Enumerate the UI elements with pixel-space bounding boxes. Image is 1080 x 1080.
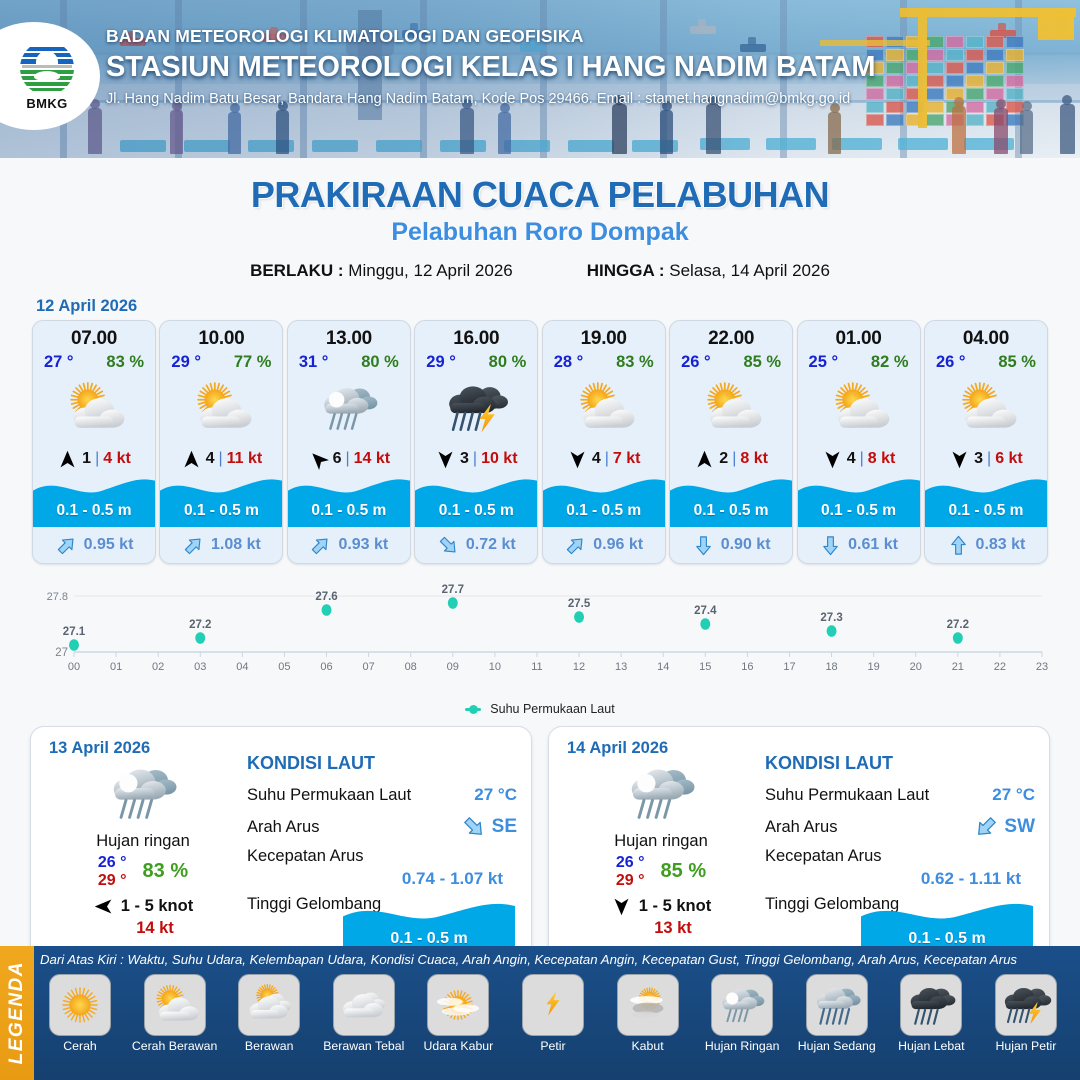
svg-text:16: 16 [741,661,753,673]
current-speed-value: 0.72 kt [466,536,516,554]
sst-chart: 27.8270001020304050607080910111213141516… [28,580,1052,700]
forecast-card-row: 07.0027 °83 %1|4 kt0.1 - 0.5 m0.95 kt10.… [0,320,1080,564]
forecast-current: 0.61 kt [798,527,920,563]
legend-item-label: Berawan Tebal [323,1039,404,1053]
valid-from-value: Minggu, 12 April 2026 [348,261,512,280]
weather-icon-cerah-berawan [670,372,792,444]
sea-condition-title: KONDISI LAUT [765,753,1035,774]
forecast-humidity: 82 % [871,353,909,372]
current-direction-arrow-icon [692,534,715,557]
forecast-temperature: 25 ° [809,353,839,372]
weather-icon-kabut [617,974,679,1036]
wind-separator: | [732,450,736,468]
wind-speed-value: 2 [719,450,728,468]
current-direction-arrow-icon [819,534,842,557]
wave-height-block: 0.1 - 0.5 m [160,475,282,527]
chart-legend-label: Suhu Permukaan Laut [490,702,614,716]
current-direction-row: Arah ArusSE [247,811,517,843]
daily-temp-min: 26 ° [98,854,127,872]
wind-speed-value: 6 [333,450,342,468]
current-direction-arrow-icon [309,534,332,557]
svg-text:12: 12 [573,661,585,673]
svg-text:27.1: 27.1 [63,626,86,638]
current-direction-arrow-icon [973,814,999,840]
weather-icon-berawan [238,974,300,1036]
current-direction-arrow-icon [55,534,78,557]
legend-item: Hujan Ringan [698,974,786,1053]
current-speed-value: 0.74 - 1.07 kt [247,869,517,889]
gust-speed-value: 6 kt [995,450,1023,468]
daily-temp-max: 29 ° [616,872,645,890]
gust-speed-value: 10 kt [481,450,517,468]
current-direction-label: Arah Arus [765,818,837,837]
forecast-humidity: 83 % [616,353,654,372]
svg-text:03: 03 [194,661,206,673]
forecast-current: 0.83 kt [925,527,1047,563]
valid-until-value: Selasa, 14 April 2026 [669,261,830,280]
bmkg-logo-emblem [20,41,74,95]
weather-icon-hujan-ringan [104,756,182,830]
svg-text:22: 22 [994,661,1006,673]
svg-text:01: 01 [110,661,122,673]
wave-height-block: 0.1 - 0.5 m [670,475,792,527]
forecast-humidity: 80 % [361,353,399,372]
wave-height-value: 0.1 - 0.5 m [288,502,410,520]
sst-label: Suhu Permukaan Laut [247,786,411,805]
wind-separator: | [860,450,864,468]
legend-item-label: Hujan Lebat [898,1039,964,1053]
sst-row: Suhu Permukaan Laut27 °C [765,779,1035,811]
forecast-current: 0.72 kt [415,527,537,563]
daily-gust: 13 kt [654,919,692,938]
daily-forecast-panel[interactable]: 13 April 2026Hujan ringan26 °29 °83 %1 -… [30,726,532,972]
daily-wind: 1 - 5 knot [93,896,193,917]
weather-icon-cerah-berawan [925,372,1047,444]
legend-item: Berawan [225,974,313,1053]
current-direction-value-group: SW [973,814,1035,840]
wind-direction-arrow-icon [694,449,715,470]
weather-icon-petir [522,974,584,1036]
wind-speed-value: 4 [592,450,601,468]
wave-height-value: 0.1 - 0.5 m [33,502,155,520]
wind-separator: | [219,450,223,468]
forecast-wind: 3|6 kt [925,444,1047,474]
svg-text:27.4: 27.4 [694,605,717,617]
forecast-temp-humidity: 26 °85 % [670,350,792,372]
wave-height-value: 0.1 - 0.5 m [670,502,792,520]
legend-item: Berawan Tebal [320,974,408,1053]
weather-icon-cerah-berawan [543,372,665,444]
gust-speed-value: 7 kt [613,450,641,468]
svg-text:21: 21 [952,661,964,673]
forecast-temperature: 29 ° [171,353,201,372]
daily-temp-range: 26 °29 ° [616,854,645,890]
svg-text:27.2: 27.2 [189,619,211,631]
daily-condition: Hujan ringan [96,832,190,851]
wind-direction-arrow-icon [181,449,202,470]
svg-text:27.2: 27.2 [947,619,969,631]
svg-text:06: 06 [320,661,332,673]
legend-item-label: Udara Kabur [424,1039,494,1053]
weather-icon-hujan-sedang [806,974,868,1036]
current-direction-arrow-icon [947,534,970,557]
wind-separator: | [605,450,609,468]
daily-panel-right: KONDISI LAUTSuhu Permukaan Laut27 °CArah… [241,739,517,959]
page-title: PRAKIRAAN CUACA PELABUHAN [0,174,1080,216]
legend-item-label: Cerah [63,1039,97,1053]
wind-separator: | [345,450,349,468]
svg-text:14: 14 [657,661,669,673]
station-address: Jl. Hang Nadim Batu Besar, Bandara Hang … [106,91,1006,107]
forecast-time: 04.00 [925,321,1047,350]
forecast-current: 0.95 kt [33,527,155,563]
header-text-block: BADAN METEOROLOGI KLIMATOLOGI DAN GEOFIS… [106,26,1006,107]
current-speed-value: 0.62 - 1.11 kt [765,869,1035,889]
weather-icon-hujan-petir [995,974,1057,1036]
current-direction-arrow-icon [437,534,460,557]
forecast-card[interactable]: 16.0029 °80 %3|10 kt0.1 - 0.5 m0.72 kt [414,320,538,564]
current-direction-label: Arah Arus [247,818,319,837]
station-name: STASIUN METEOROLOGI KELAS I HANG NADIM B… [106,51,1006,84]
forecast-card[interactable]: 13.0031 °80 %6|14 kt0.1 - 0.5 m0.93 kt [287,320,411,564]
current-speed-value: 0.83 kt [976,536,1026,554]
valid-from: BERLAKU : Minggu, 12 April 2026 [250,261,513,281]
forecast-wind: 1|4 kt [33,444,155,474]
daily-temp-humidity: 26 °29 °85 % [616,854,706,890]
forecast-time: 01.00 [798,321,920,350]
sst-label: Suhu Permukaan Laut [765,786,929,805]
svg-text:08: 08 [405,661,417,673]
forecast-time: 07.00 [33,321,155,350]
forecast-temperature: 26 ° [681,353,711,372]
bmkg-logo-text: BMKG [20,96,74,111]
daily-panel-right: KONDISI LAUTSuhu Permukaan Laut27 °CArah… [759,739,1035,959]
forecast-wind: 4|11 kt [160,444,282,474]
forecast-temp-humidity: 29 °80 % [415,350,537,372]
wind-speed-value: 4 [847,450,856,468]
svg-text:27: 27 [55,647,68,659]
forecast-card[interactable]: 04.0026 °85 %3|6 kt0.1 - 0.5 m0.83 kt [924,320,1048,564]
svg-text:27.5: 27.5 [568,598,591,610]
svg-text:23: 23 [1036,661,1048,673]
wind-direction-arrow-icon [308,449,329,470]
wind-direction-arrow-icon [435,449,456,470]
legend-item: Hujan Sedang [793,974,881,1053]
svg-text:27.6: 27.6 [315,591,337,603]
current-speed-label: Kecepatan Arus [247,847,364,866]
wind-separator: | [95,450,99,468]
gust-speed-value: 11 kt [227,450,263,468]
current-direction-arrow-icon [461,814,487,840]
daily-wind-range: 1 - 5 knot [639,897,711,916]
gust-speed-value: 8 kt [868,450,896,468]
current-direction-value: SW [1004,816,1035,838]
forecast-humidity: 77 % [234,353,272,372]
daily-condition: Hujan ringan [614,832,708,851]
sst-chart-svg: 27.8270001020304050607080910111213141516… [28,580,1052,684]
weather-icon-hujan-lebat [900,974,962,1036]
forecast-current: 1.08 kt [160,527,282,563]
wind-direction-arrow-icon [822,449,843,470]
svg-text:20: 20 [910,661,922,673]
forecast-temperature: 29 ° [426,353,456,372]
wave-height-value: 0.1 - 0.5 m [543,502,665,520]
legend-item: Cerah [36,974,124,1053]
svg-text:07: 07 [362,661,374,673]
svg-text:13: 13 [615,661,627,673]
current-direction-value: SE [492,816,517,838]
daily-panel-left: 14 April 2026Hujan ringan26 °29 °85 %1 -… [563,739,759,959]
daily-forecast-panel[interactable]: 14 April 2026Hujan ringan26 °29 °85 %1 -… [548,726,1050,972]
forecast-wind: 4|8 kt [798,444,920,474]
wave-height-block: 0.1 - 0.5 m [33,475,155,527]
wave-height-value: 0.1 - 0.5 m [415,502,537,520]
wind-direction-arrow-icon [949,449,970,470]
forecast-humidity: 83 % [106,353,144,372]
forecast-humidity: 85 % [744,353,782,372]
legend-item: Cerah Berawan [131,974,219,1053]
forecast-temp-humidity: 26 °85 % [925,350,1047,372]
svg-text:15: 15 [699,661,711,673]
svg-text:04: 04 [236,661,248,673]
svg-text:27.7: 27.7 [442,584,464,596]
forecast-temperature: 27 ° [44,353,74,372]
legend-item: Hujan Petir [982,974,1070,1053]
sst-row: Suhu Permukaan Laut27 °C [247,779,517,811]
wind-separator: | [473,450,477,468]
svg-text:05: 05 [278,661,290,673]
infographic-page: BMKG BADAN METEOROLOGI KLIMATOLOGI DAN G… [0,0,1080,1080]
current-direction-row: Arah ArusSW [765,811,1035,843]
chart-legend-marker [469,705,478,714]
forecast-current: 0.90 kt [670,527,792,563]
current-direction-value-group: SE [461,814,517,840]
daily-temp-range: 26 °29 ° [98,854,127,890]
svg-text:27.3: 27.3 [820,612,842,624]
daily-temp-max: 29 ° [98,872,127,890]
forecast-wind: 6|14 kt [288,444,410,474]
wind-direction-arrow-icon [57,449,78,470]
svg-text:09: 09 [447,661,459,673]
weather-icon-cerah [49,974,111,1036]
legend-item-label: Cerah Berawan [132,1039,217,1053]
wind-speed-value: 3 [460,450,469,468]
gust-speed-value: 4 kt [103,450,131,468]
forecast-time: 10.00 [160,321,282,350]
weather-icon-cerah-berawan [798,372,920,444]
forecast-wind: 4|7 kt [543,444,665,474]
legend-side-label: LEGENDA [6,961,28,1064]
daily-panel-left: 13 April 2026Hujan ringan26 °29 °83 %1 -… [45,739,241,959]
daily-gust: 14 kt [136,919,174,938]
forecast-humidity: 80 % [489,353,527,372]
daily-humidity: 85 % [661,860,707,883]
current-speed-row: Kecepatan Arus [247,843,517,869]
current-speed-row: Kecepatan Arus [765,843,1035,869]
forecast-temp-humidity: 29 °77 % [160,350,282,372]
legend-item-label: Hujan Petir [996,1039,1057,1053]
current-speed-value: 0.93 kt [338,536,388,554]
weather-icon-hujan-ringan [711,974,773,1036]
forecast-temperature: 31 ° [299,353,329,372]
forecast-card[interactable]: 22.0026 °85 %2|8 kt0.1 - 0.5 m0.90 kt [669,320,793,564]
weather-icon-berawan-tebal [333,974,395,1036]
weather-icon-cerah-berawan [33,372,155,444]
agency-name: BADAN METEOROLOGI KLIMATOLOGI DAN GEOFIS… [106,26,1006,47]
forecast-wind: 2|8 kt [670,444,792,474]
legend-item-row: CerahCerah BerawanBerawanBerawan TebalUd… [36,974,1076,1053]
forecast-card[interactable]: 10.0029 °77 %4|11 kt0.1 - 0.5 m1.08 kt [159,320,283,564]
forecast-time: 22.00 [670,321,792,350]
forecast-temp-humidity: 31 °80 % [288,350,410,372]
weather-icon-udara-kabur [427,974,489,1036]
sst-value: 27 °C [474,785,517,805]
chart-legend: Suhu Permukaan Laut [0,702,1080,716]
legend-item: Petir [509,974,597,1053]
wave-height-block: 0.1 - 0.5 m [798,475,920,527]
header-banner: BMKG BADAN METEOROLOGI KLIMATOLOGI DAN G… [0,0,1080,158]
legend-bar: LEGENDA Dari Atas Kiri : Waktu, Suhu Uda… [0,946,1080,1080]
forecast-temperature: 28 ° [554,353,584,372]
current-direction-arrow-icon [182,534,205,557]
weather-icon-cerah-berawan [144,974,206,1036]
forecast-current: 0.93 kt [288,527,410,563]
current-direction-arrow-icon [564,534,587,557]
svg-text:19: 19 [868,661,880,673]
page-subtitle: Pelabuhan Roro Dompak [0,218,1080,247]
legend-item: Udara Kabur [414,974,502,1053]
daily-panel-row: 13 April 2026Hujan ringan26 °29 °83 %1 -… [0,716,1080,972]
legend-item-label: Kabut [631,1039,663,1053]
forecast-current: 0.96 kt [543,527,665,563]
forecast-temperature: 26 ° [936,353,966,372]
wave-height-value: 0.1 - 0.5 m [160,502,282,520]
gust-speed-value: 14 kt [354,450,390,468]
legend-side-tab: LEGENDA [0,946,34,1080]
legend-item: Hujan Lebat [887,974,975,1053]
valid-until: HINGGA : Selasa, 14 April 2026 [587,261,830,281]
daily-wind-range: 1 - 5 knot [121,897,193,916]
weather-icon-hujan-ringan [622,756,700,830]
svg-text:17: 17 [783,661,795,673]
gust-speed-value: 8 kt [740,450,768,468]
forecast-card[interactable]: 19.0028 °83 %4|7 kt0.1 - 0.5 m0.96 kt [542,320,666,564]
forecast-temp-humidity: 25 °82 % [798,350,920,372]
legend-item-label: Berawan [245,1039,294,1053]
legend-item-label: Petir [540,1039,565,1053]
wind-direction-arrow-icon [93,896,114,917]
forecast-card[interactable]: 07.0027 °83 %1|4 kt0.1 - 0.5 m0.95 kt [32,320,156,564]
svg-text:10: 10 [489,661,501,673]
daily-wind: 1 - 5 knot [611,896,711,917]
wave-height-block: 0.1 - 0.5 m [543,475,665,527]
wind-speed-value: 3 [974,450,983,468]
forecast-time: 16.00 [415,321,537,350]
daily-temp-humidity: 26 °29 °83 % [98,854,188,890]
svg-text:02: 02 [152,661,164,673]
forecast-temp-humidity: 27 °83 % [33,350,155,372]
svg-text:18: 18 [825,661,837,673]
validity-row: BERLAKU : Minggu, 12 April 2026 HINGGA :… [0,261,1080,281]
wind-separator: | [987,450,991,468]
valid-from-label: BERLAKU : [250,261,344,280]
wave-height-value: 0.1 - 0.5 m [925,502,1047,520]
weather-icon-hujan-ringan [288,372,410,444]
daily-temp-min: 26 ° [616,854,645,872]
wave-height-value: 0.1 - 0.5 m [798,502,920,520]
wave-height-block: 0.1 - 0.5 m [415,475,537,527]
weather-icon-cerah-berawan [160,372,282,444]
forecast-card[interactable]: 01.0025 °82 %4|8 kt0.1 - 0.5 m0.61 kt [797,320,921,564]
current-speed-value: 0.96 kt [593,536,643,554]
forecast-date-label: 12 April 2026 [36,297,1080,316]
wind-direction-arrow-icon [611,896,632,917]
weather-icon-hujan-petir [415,372,537,444]
legend-header-text: Dari Atas Kiri : Waktu, Suhu Udara, Kele… [40,952,1017,967]
forecast-temp-humidity: 28 °83 % [543,350,665,372]
svg-text:11: 11 [531,661,542,673]
forecast-humidity: 85 % [998,353,1036,372]
forecast-time: 19.00 [543,321,665,350]
wave-height-block: 0.1 - 0.5 m [925,475,1047,527]
current-speed-value: 0.95 kt [84,536,134,554]
current-speed-label: Kecepatan Arus [765,847,882,866]
current-speed-value: 0.90 kt [721,536,771,554]
current-speed-value: 0.61 kt [848,536,898,554]
legend-item-label: Hujan Sedang [798,1039,876,1053]
valid-until-label: HINGGA : [587,261,665,280]
wind-direction-arrow-icon [567,449,588,470]
wave-height-block: 0.1 - 0.5 m [288,475,410,527]
sea-condition-title: KONDISI LAUT [247,753,517,774]
legend-item: Kabut [604,974,692,1053]
wind-speed-value: 1 [82,450,91,468]
wind-speed-value: 4 [206,450,215,468]
forecast-time: 13.00 [288,321,410,350]
daily-humidity: 83 % [143,860,189,883]
forecast-wind: 3|10 kt [415,444,537,474]
current-speed-value: 1.08 kt [211,536,261,554]
svg-text:00: 00 [68,661,80,673]
svg-text:27.8: 27.8 [47,591,68,603]
legend-item-label: Hujan Ringan [705,1039,780,1053]
sst-value: 27 °C [992,785,1035,805]
